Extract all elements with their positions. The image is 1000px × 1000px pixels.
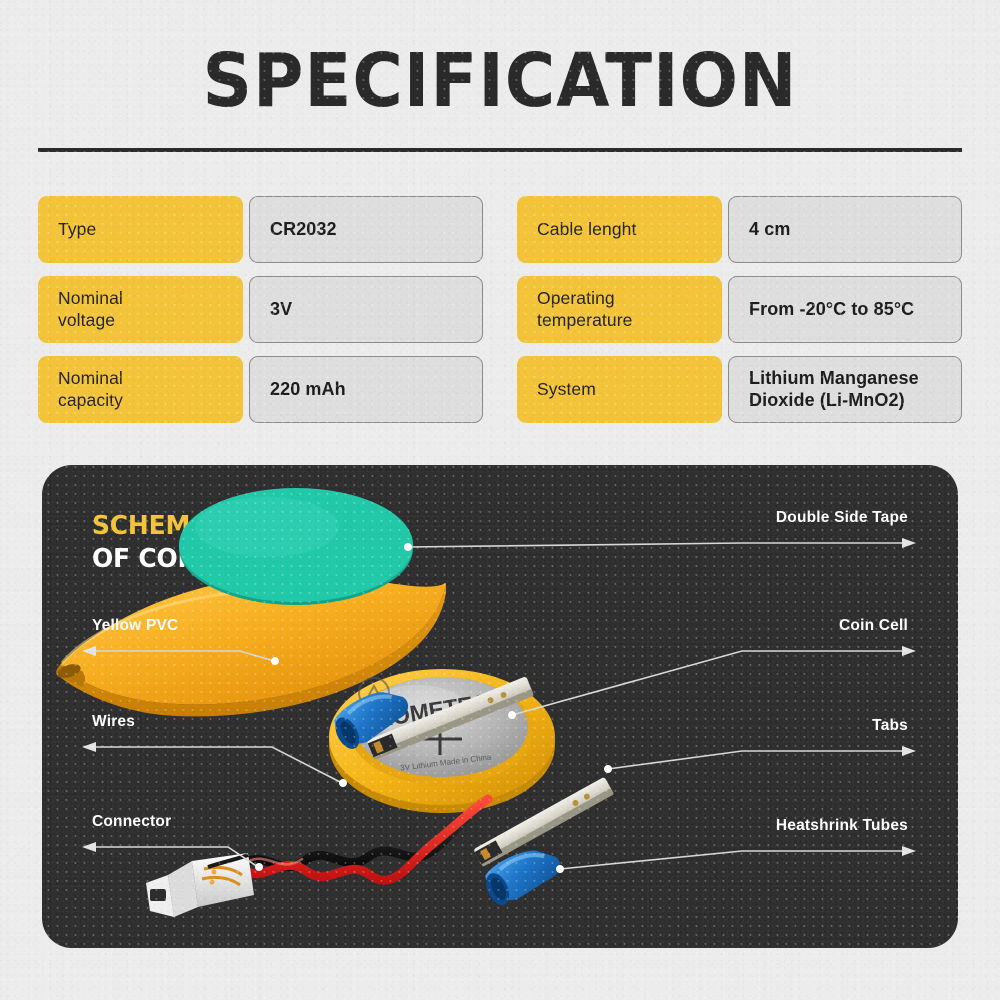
spec-row: System Lithium ManganeseDioxide (Li-MnO2…	[517, 356, 962, 423]
spec-value: 3V	[249, 276, 483, 343]
spec-label: System	[517, 356, 722, 423]
callout-label-wires: Wires	[92, 713, 135, 731]
spec-value: 220 mAh	[249, 356, 483, 423]
callout-label-heatshrink-tubes: Heatshrink Tubes	[776, 817, 908, 835]
spec-label: Nominalcapacity	[38, 356, 243, 423]
spec-row: Type CR2032	[38, 196, 483, 263]
specification-page: SPECIFICATION Type CR2032 Nominalvoltage…	[0, 0, 1000, 1000]
spec-row: Nominalvoltage 3V	[38, 276, 483, 343]
callout-label-connector: Connector	[92, 813, 171, 831]
spec-value: 4 cm	[728, 196, 962, 263]
schematic-panel: SCHEMATIC LAYOUT OF COMPONENTS	[42, 465, 958, 948]
spec-value: Lithium ManganeseDioxide (Li-MnO2)	[728, 356, 962, 423]
callout-leader-lines	[42, 465, 958, 948]
leader-endpoint-dots	[255, 543, 612, 873]
spec-value: CR2032	[249, 196, 483, 263]
spec-value: From -20°C to 85°C	[728, 276, 962, 343]
spec-row: Operatingtemperature From -20°C to 85°C	[517, 276, 962, 343]
spec-label: Operatingtemperature	[517, 276, 722, 343]
callout-label-yellow-pvc: Yellow PVC	[92, 617, 178, 635]
specification-table: Type CR2032 Nominalvoltage 3V Nominalcap…	[38, 196, 962, 423]
spec-label: Cable lenght	[517, 196, 722, 263]
spec-label: Type	[38, 196, 243, 263]
spec-column-right: Cable lenght 4 cm Operatingtemperature F…	[517, 196, 962, 423]
title-divider	[38, 148, 962, 152]
callout-label-coin-cell: Coin Cell	[839, 617, 908, 635]
spec-column-left: Type CR2032 Nominalvoltage 3V Nominalcap…	[38, 196, 483, 423]
spec-row: Nominalcapacity 220 mAh	[38, 356, 483, 423]
callout-label-tabs: Tabs	[872, 717, 908, 735]
callout-label-double-side-tape: Double Side Tape	[776, 509, 908, 527]
page-title: SPECIFICATION	[35, 44, 965, 118]
spec-label: Nominalvoltage	[38, 276, 243, 343]
spec-row: Cable lenght 4 cm	[517, 196, 962, 263]
leader-arrowheads	[82, 538, 916, 856]
